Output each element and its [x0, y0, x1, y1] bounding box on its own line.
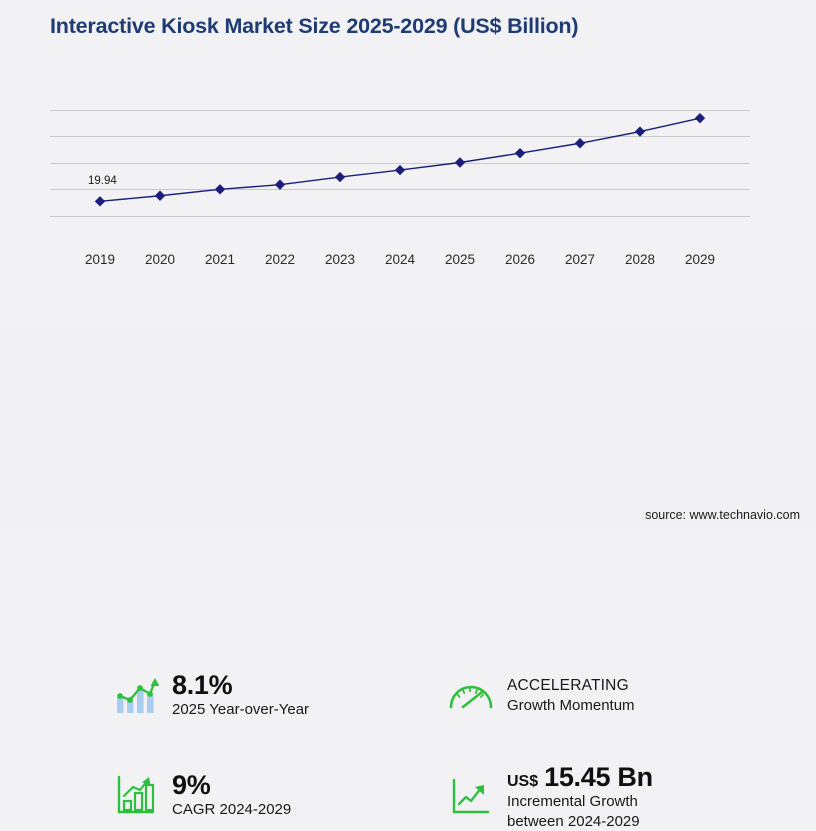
x-tick-2029: 2029: [670, 252, 730, 267]
x-tick-2023: 2023: [310, 252, 370, 267]
data-point-2025: [455, 157, 465, 167]
stat-value-cagr: 9%: [172, 770, 291, 800]
stat-card-yoy: 8.1% 2025 Year-over-Year: [112, 670, 309, 720]
stat-value-yoy: 8.1%: [172, 670, 309, 700]
data-point-2027: [575, 138, 585, 148]
x-tick-2027: 2027: [550, 252, 610, 267]
x-tick-2024: 2024: [370, 252, 430, 267]
x-tick-2020: 2020: [130, 252, 190, 267]
x-tick-2026: 2026: [490, 252, 550, 267]
data-point-2023: [335, 172, 345, 182]
chart-region: Interactive Kiosk Market Size 2025-2029 …: [0, 0, 816, 330]
stats-panel: 8.1% 2025 Year-over-Year ACCELERATING: [0, 330, 816, 528]
source-note: source: www.technavio.com: [645, 508, 800, 522]
incremental-amount: 15.45 Bn: [544, 762, 653, 792]
data-point-2024: [395, 165, 405, 175]
data-point-2029: [695, 113, 705, 123]
stat-value-incremental: US$15.45 Bn: [507, 762, 653, 792]
data-point-2021: [215, 184, 225, 194]
stat-card-incremental: US$15.45 Bn Incremental Growth between 2…: [447, 762, 653, 831]
data-point-2019: [95, 196, 105, 206]
data-point-2028: [635, 126, 645, 136]
speedometer-icon: [447, 672, 495, 720]
x-tick-2022: 2022: [250, 252, 310, 267]
x-tick-2028: 2028: [610, 252, 670, 267]
stat-caption-incremental-line2: between 2024-2029: [507, 812, 653, 831]
currency-prefix: US$: [507, 773, 538, 790]
stat-caption-yoy: 2025 Year-over-Year: [172, 700, 309, 720]
bar-chart-trend-icon: [112, 671, 160, 719]
data-point-label-2019: 19.94: [88, 175, 117, 187]
data-point-2022: [275, 179, 285, 189]
trend-arrow-icon: [447, 773, 495, 821]
data-point-2020: [155, 191, 165, 201]
x-tick-2021: 2021: [190, 252, 250, 267]
data-point-2026: [515, 148, 525, 158]
line-series-svg: [50, 96, 750, 236]
series-line: [100, 118, 700, 201]
page-title: Interactive Kiosk Market Size 2025-2029 …: [50, 14, 770, 39]
stat-caption-momentum: Growth Momentum: [507, 696, 635, 716]
stat-card-cagr: 9% CAGR 2024-2029: [112, 770, 291, 820]
stat-card-momentum: ACCELERATING Growth Momentum: [447, 672, 635, 720]
x-axis-labels: 2019202020212022202320242025202620272028…: [50, 252, 750, 276]
x-tick-2019: 2019: [70, 252, 130, 267]
stat-value-momentum: ACCELERATING: [507, 676, 635, 696]
stat-caption-cagr: CAGR 2024-2029: [172, 800, 291, 820]
growth-bars-icon: [112, 771, 160, 819]
infographic-page: Interactive Kiosk Market Size 2025-2029 …: [0, 0, 816, 528]
stat-caption-incremental-line1: Incremental Growth: [507, 792, 653, 812]
x-tick-2025: 2025: [430, 252, 490, 267]
